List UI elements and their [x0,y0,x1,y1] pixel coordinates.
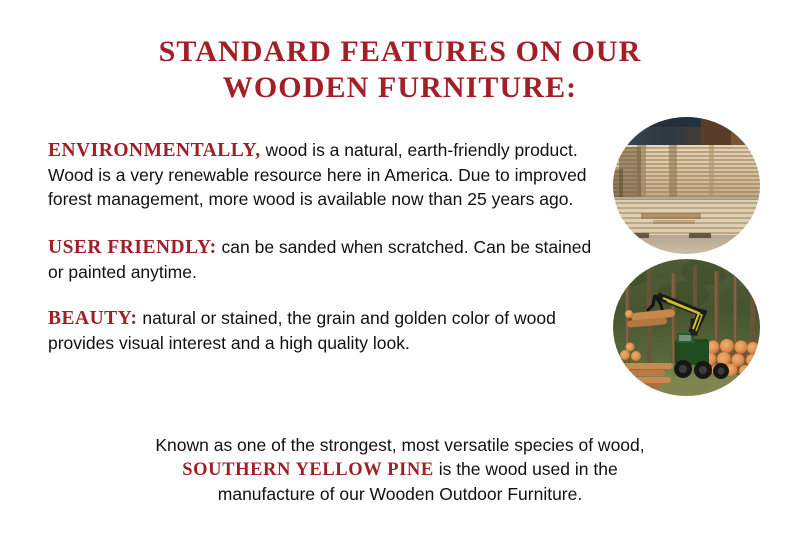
footer-species-name: SOUTHERN YELLOW PINE [182,460,434,480]
feature-paragraph: USER FRIENDLY: can be sanded when scratc… [48,235,600,284]
feature-label-environmentally: ENVIRONMENTALLY, [48,140,261,161]
footer-line-2-rest: is the wood used in the [434,459,618,479]
feature-paragraph: ENVIRONMENTALLY, wood is a natural, eart… [48,138,600,211]
page-title-line-1: STANDARD FEATURES ON OUR [0,34,800,70]
feature-item-environmentally: ENVIRONMENTALLY, wood is a natural, eart… [48,138,600,211]
feature-label-beauty: BEAUTY: [48,308,137,329]
wooden-furniture-features-page: STANDARD FEATURES ON OUR WOODEN FURNITUR… [0,0,800,533]
feature-label-user-friendly: USER FRIENDLY: [48,237,217,258]
feature-item-user-friendly: USER FRIENDLY: can be sanded when scratc… [48,235,600,284]
page-title: STANDARD FEATURES ON OUR WOODEN FURNITUR… [0,34,800,106]
footer-line-3: manufacture of our Wooden Outdoor Furnit… [0,482,800,506]
forestry-logging-machine-photo [613,259,760,396]
footer-line-1: Known as one of the strongest, most vers… [0,433,800,457]
feature-item-beauty: BEAUTY: natural or stained, the grain an… [48,306,600,355]
stacked-lumber-boards-photo [613,117,760,254]
footer-note: Known as one of the strongest, most vers… [0,433,800,506]
features-list: ENVIRONMENTALLY, wood is a natural, eart… [48,138,600,355]
page-title-line-2: WOODEN FURNITURE: [0,70,800,106]
feature-paragraph: BEAUTY: natural or stained, the grain an… [48,306,600,355]
footer-line-2: SOUTHERN YELLOW PINE is the wood used in… [0,457,800,482]
